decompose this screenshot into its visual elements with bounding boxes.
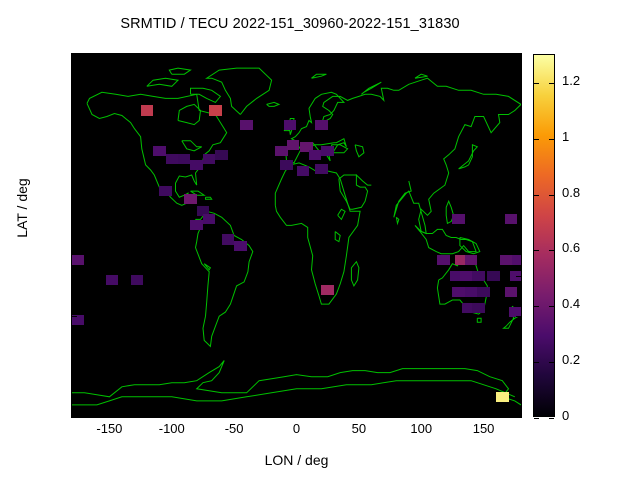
- heatmap-cell: [215, 150, 227, 160]
- heatmap-cell: [505, 214, 517, 224]
- colorbar-tick-mark: [534, 83, 539, 84]
- coastline-path: [338, 209, 345, 219]
- y-axis-tick-mark: [72, 236, 77, 237]
- x-axis-tick-mark: [421, 412, 422, 417]
- heatmap-cell: [487, 271, 499, 281]
- heatmap-cell: [505, 287, 517, 297]
- x-axis-tick-mark: [359, 54, 360, 59]
- coastline-path: [169, 68, 190, 74]
- figure-title: SRMTID / TECU 2022-151_30960-2022-151_31…: [0, 16, 580, 32]
- colorbar-tick-label: 0.6: [562, 240, 612, 255]
- x-axis-label: LON / deg: [72, 452, 521, 468]
- heatmap-cell: [465, 287, 477, 297]
- x-axis-tick-label: -50: [204, 421, 264, 436]
- heatmap-cell: [460, 271, 472, 281]
- heatmap-cell: [153, 146, 165, 156]
- x-axis-tick-label: 50: [329, 421, 389, 436]
- colorbar-tick-label: 0.8: [562, 185, 612, 200]
- y-axis-label: LAT / deg: [14, 148, 30, 268]
- heatmap-cell: [280, 160, 292, 170]
- y-axis-tick-mark: [516, 195, 521, 196]
- coastline-path: [351, 262, 359, 286]
- x-axis-tick-mark: [359, 412, 360, 417]
- x-axis-tick-mark: [172, 412, 173, 417]
- heatmap-cell: [72, 255, 84, 265]
- heatmap-cell: [209, 105, 221, 115]
- heatmap-cell: [178, 154, 190, 164]
- x-axis-tick-mark: [234, 412, 235, 417]
- heatmap-cell: [131, 275, 143, 285]
- heatmap-cell: [234, 241, 246, 251]
- colorbar-tick-mark: [549, 250, 554, 251]
- y-axis-tick-mark: [72, 357, 77, 358]
- heatmap-cell: [203, 214, 215, 224]
- heatmap-cell: [452, 214, 464, 224]
- colorbar-tick-mark: [534, 195, 539, 196]
- coastline-path: [396, 217, 399, 223]
- y-axis-tick-mark: [72, 74, 77, 75]
- colorbar: [533, 54, 555, 417]
- colorbar-tick-mark: [534, 362, 539, 363]
- colorbar-tick-label: 1.2: [562, 73, 612, 88]
- coastline-path: [415, 74, 428, 78]
- coastline-path: [477, 318, 481, 322]
- heatmap-cell: [159, 186, 171, 196]
- x-axis-tick-mark: [234, 54, 235, 59]
- x-axis-tick-label: 150: [454, 421, 514, 436]
- y-axis-tick-mark: [72, 115, 77, 116]
- colorbar-tick-label: 0.4: [562, 296, 612, 311]
- coastline-path: [459, 145, 478, 169]
- coastline-path: [361, 82, 381, 94]
- heatmap-cell: [496, 392, 508, 402]
- coastline-path: [191, 88, 221, 102]
- coastline-path: [147, 78, 178, 86]
- y-axis-tick-mark: [72, 155, 77, 156]
- colorbar-tick-mark: [549, 83, 554, 84]
- coastline-path: [267, 102, 279, 106]
- coastline-path: [312, 74, 327, 78]
- heatmap-cell: [141, 105, 153, 115]
- heatmap-cell: [452, 287, 464, 297]
- y-axis-tick-mark: [516, 357, 521, 358]
- x-axis-tick-label: 100: [391, 421, 451, 436]
- heatmap-cell: [284, 120, 296, 130]
- coastline-overlay: [72, 54, 521, 417]
- colorbar-tick-mark: [549, 418, 554, 419]
- y-axis-tick-mark: [72, 195, 77, 196]
- colorbar-tick-label: 1: [562, 129, 612, 144]
- figure-canvas: SRMTID / TECU 2022-151_30960-2022-151_31…: [0, 0, 640, 480]
- heatmap-cell: [477, 287, 489, 297]
- heatmap-cell: [190, 220, 202, 230]
- y-axis-tick-mark: [516, 316, 521, 317]
- heatmap-cell: [321, 146, 333, 156]
- x-axis-tick-mark: [297, 54, 298, 59]
- heatmap-cell: [190, 160, 202, 170]
- x-axis-tick-mark: [297, 412, 298, 417]
- y-axis-tick-mark: [516, 115, 521, 116]
- map-plot-area[interactable]: [72, 54, 521, 417]
- y-axis-tick-mark: [72, 397, 77, 398]
- heatmap-cell: [500, 255, 512, 265]
- heatmap-cell: [240, 120, 252, 130]
- coastline-path: [335, 232, 340, 242]
- colorbar-tick-mark: [549, 195, 554, 196]
- x-axis-tick-mark: [109, 54, 110, 59]
- coastline-path: [178, 104, 201, 124]
- colorbar-tick-mark: [534, 306, 539, 307]
- colorbar-tick-mark: [534, 418, 539, 419]
- heatmap-cell: [106, 275, 118, 285]
- heatmap-cell: [315, 120, 327, 130]
- x-axis-tick-mark: [109, 412, 110, 417]
- y-axis-tick-mark: [72, 316, 77, 317]
- x-axis-tick-label: -100: [142, 421, 202, 436]
- coastline-path: [206, 197, 212, 199]
- x-axis-tick-label: -150: [79, 421, 139, 436]
- y-axis-tick-mark: [516, 236, 521, 237]
- heatmap-cell: [203, 154, 215, 164]
- coastline-path: [275, 163, 360, 304]
- colorbar-tick-mark: [534, 250, 539, 251]
- heatmap-cell: [321, 285, 333, 295]
- heatmap-cell: [184, 194, 196, 204]
- colorbar-tick-mark: [549, 362, 554, 363]
- y-axis-tick-mark: [72, 276, 77, 277]
- colorbar-tick-label: 0: [562, 408, 612, 423]
- heatmap-cell: [472, 303, 484, 313]
- x-axis-tick-mark: [172, 54, 173, 59]
- y-axis-tick-mark: [516, 155, 521, 156]
- x-axis-tick-mark: [484, 54, 485, 59]
- coastline-path: [196, 211, 253, 346]
- heatmap-cell: [437, 255, 449, 265]
- heatmap-cell: [309, 150, 321, 160]
- coastline-path: [355, 145, 364, 157]
- heatmap-cell: [315, 164, 327, 174]
- heatmap-cell: [222, 234, 234, 244]
- coastline-path: [72, 361, 521, 405]
- y-axis-tick-mark: [516, 276, 521, 277]
- heatmap-cell: [472, 271, 484, 281]
- x-axis-tick-mark: [484, 412, 485, 417]
- coastline-path: [182, 141, 202, 151]
- heatmap-cell: [512, 255, 521, 265]
- colorbar-tick-label: 0.2: [562, 352, 612, 367]
- x-axis-tick-mark: [421, 54, 422, 59]
- heatmap-cell: [465, 255, 477, 265]
- colorbar-tick-mark: [534, 139, 539, 140]
- heatmap-cell: [166, 154, 178, 164]
- colorbar-tick-mark: [549, 139, 554, 140]
- heatmap-cell: [287, 140, 299, 150]
- heatmap-cell: [297, 166, 309, 176]
- colorbar-tick-mark: [549, 306, 554, 307]
- x-axis-tick-label: 0: [267, 421, 327, 436]
- y-axis-tick-mark: [516, 74, 521, 75]
- y-axis-tick-mark: [516, 397, 521, 398]
